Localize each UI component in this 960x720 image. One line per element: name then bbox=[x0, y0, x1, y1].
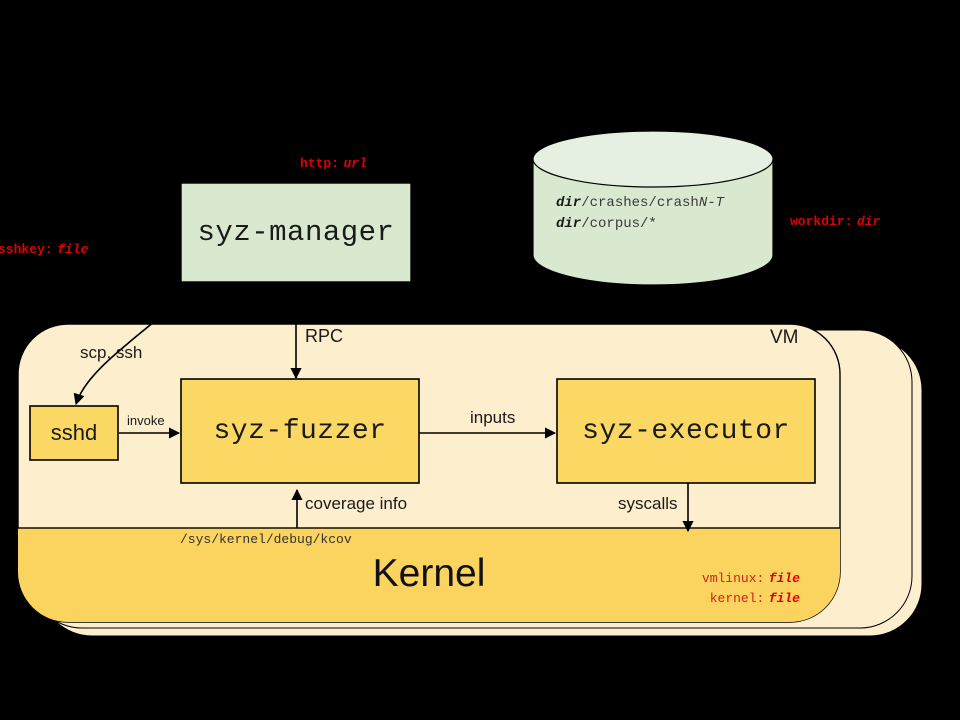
http-annotation-key: http: bbox=[300, 156, 339, 171]
syz-manager-label: syz-manager bbox=[198, 216, 395, 249]
workdir-annotation: workdir: dir bbox=[790, 212, 880, 230]
sshd-label-wrap: sshd bbox=[30, 406, 118, 460]
edge-label-syscalls: syscalls bbox=[618, 494, 678, 513]
storage-paths: dir/crashes/crashN-T dir/corpus/* bbox=[556, 192, 724, 234]
edge-label-invoke: invoke bbox=[127, 413, 165, 428]
edge-label-scp-ssh: scp, ssh bbox=[80, 343, 142, 362]
sshkey-annotation: sshkey: file bbox=[0, 240, 88, 258]
workdir-annotation-value: dir bbox=[857, 214, 880, 229]
diagram-canvas: syz-manager http: url sshkey: file dir/c… bbox=[0, 0, 960, 720]
edge-label-coverage-info-wrap: coverage info bbox=[305, 494, 407, 514]
kcov-path-wrap: /sys/kernel/debug/kcov bbox=[180, 530, 352, 548]
edge-label-syscalls-wrap: syscalls bbox=[618, 494, 678, 514]
vm-label-wrap: VM bbox=[770, 327, 799, 349]
kcov-path-label: /sys/kernel/debug/kcov bbox=[180, 532, 352, 547]
edge-label-inputs-wrap: inputs bbox=[470, 408, 515, 428]
workdir-annotation-key: workdir: bbox=[790, 214, 852, 229]
sshkey-annotation-value: file bbox=[57, 242, 88, 257]
kernel-annotation-row: vmlinux: file bbox=[660, 568, 800, 588]
diagram-svg bbox=[0, 0, 960, 720]
kernel-annotation-row: kernel: file bbox=[660, 588, 800, 608]
kernel-annotation-0-key: vmlinux: bbox=[702, 571, 764, 586]
storage-path-0-italic: N-T bbox=[699, 195, 724, 211]
syz-executor-label: syz-executor bbox=[582, 416, 790, 447]
edge-label-scp-ssh-wrap: scp, ssh bbox=[80, 343, 142, 363]
kernel-annotation-0-value: file bbox=[769, 571, 800, 586]
kernel-title: Kernel bbox=[373, 552, 486, 596]
syz-executor-label-wrap: syz-executor bbox=[557, 379, 815, 483]
edge-label-coverage-info: coverage info bbox=[305, 494, 407, 513]
edge-label-inputs: inputs bbox=[470, 408, 515, 427]
http-annotation-value: url bbox=[343, 156, 366, 171]
edge-label-rpc: RPC bbox=[305, 326, 343, 346]
syz-manager-label-wrap: syz-manager bbox=[181, 183, 411, 282]
kernel-annotation-1-key: kernel: bbox=[710, 591, 765, 606]
storage-path-0-prefix: dir bbox=[556, 195, 581, 211]
sshkey-annotation-key: sshkey: bbox=[0, 242, 53, 257]
kernel-annotation-1-value: file bbox=[769, 591, 800, 606]
storage-path-line: dir/corpus/* bbox=[556, 213, 724, 234]
syz-fuzzer-label: syz-fuzzer bbox=[213, 416, 386, 447]
storage-path-line: dir/crashes/crashN-T bbox=[556, 192, 724, 213]
storage-path-1-rest: /corpus/* bbox=[581, 216, 657, 232]
sshd-label: sshd bbox=[51, 420, 97, 446]
http-annotation: http: url bbox=[300, 154, 367, 172]
vm-label: VM bbox=[770, 327, 799, 348]
edge-label-rpc-wrap: RPC bbox=[305, 326, 343, 347]
kernel-annotations: vmlinux: file kernel: file bbox=[660, 568, 800, 608]
storage-path-0-rest: /crashes/crash bbox=[581, 195, 699, 211]
storage-path-1-prefix: dir bbox=[556, 216, 581, 232]
edge-label-invoke-wrap: invoke bbox=[127, 412, 165, 430]
syz-fuzzer-label-wrap: syz-fuzzer bbox=[181, 379, 419, 483]
